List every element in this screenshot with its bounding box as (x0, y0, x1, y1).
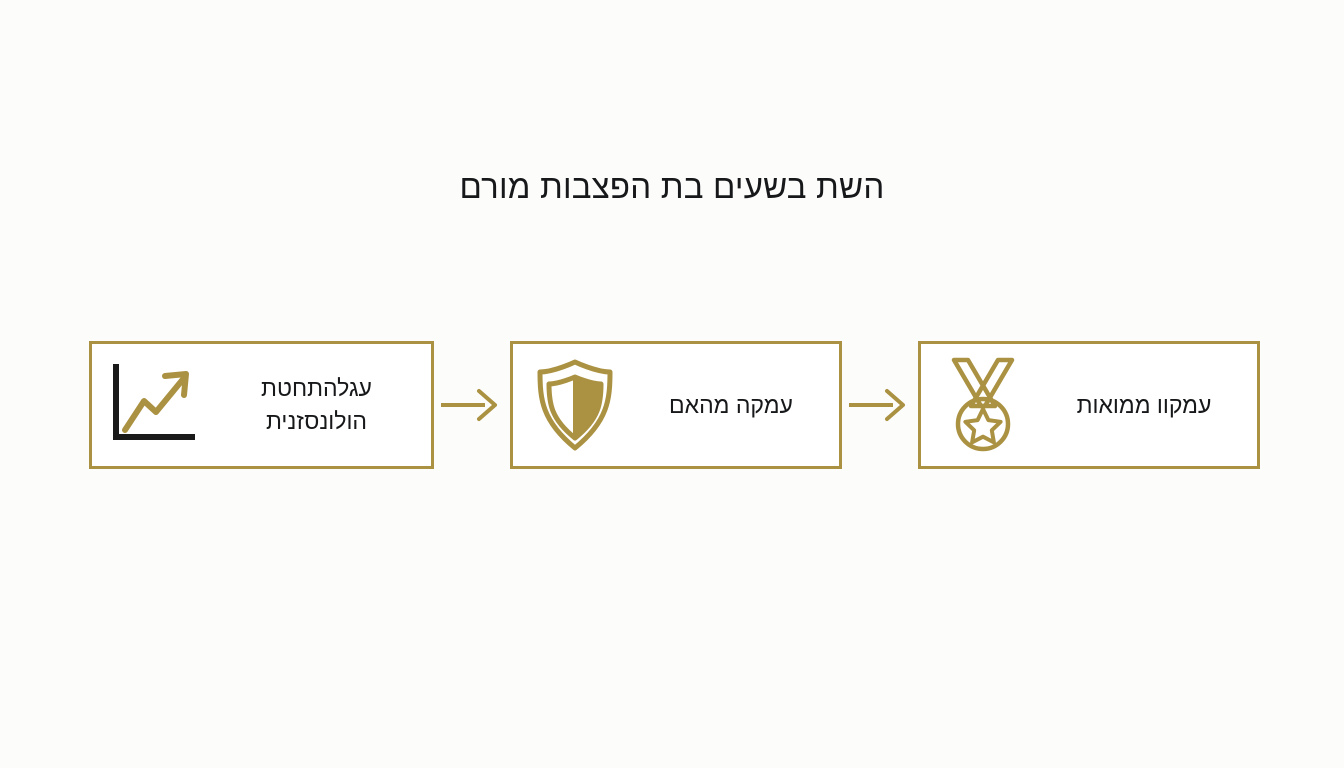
shield-icon (521, 355, 629, 455)
arrow-right-icon-2 (842, 385, 918, 425)
process-step-3[interactable]: עמקוו ממואות (918, 341, 1260, 469)
process-step-1-label: עגלהתחטת הולונסזנית (208, 372, 431, 438)
process-flow: עגלהתחטת הולונסזנית עמקה מהאם (89, 341, 1250, 469)
process-step-1[interactable]: עגלהתחטת הולונסזנית (89, 341, 434, 469)
step-3-label-line-1: עמקוו ממואות (1043, 389, 1245, 422)
process-step-2[interactable]: עמקה מהאם (510, 341, 842, 469)
step-1-label-line-1: עגלהתחטת (214, 372, 419, 405)
process-step-3-label: עמקוו ממואות (1037, 389, 1257, 422)
step-1-label-line-2: הולונסזנית (214, 405, 419, 438)
page-title: השת בשעים בת הפצבות מורם (0, 166, 1344, 208)
growth-chart-icon (100, 355, 208, 455)
medal-icon (929, 355, 1037, 455)
process-step-2-label: עמקה מהאם (629, 389, 839, 422)
step-2-label-line-1: עמקה מהאם (635, 389, 827, 422)
arrow-right-icon-1 (434, 385, 510, 425)
slide-canvas: השת בשעים בת הפצבות מורם עגלהתחטת הולונס… (0, 0, 1344, 768)
